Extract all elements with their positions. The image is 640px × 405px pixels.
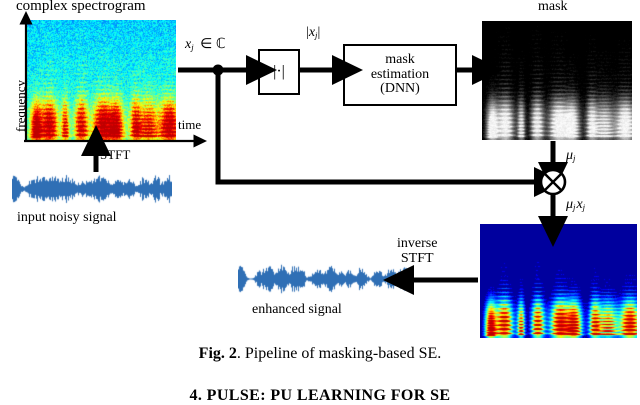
- complex-spectrogram-canvas: [26, 20, 176, 140]
- mask-title: mask: [538, 0, 568, 14]
- complex-spectrogram-image: [26, 20, 176, 140]
- masked-stft-sub: j: [583, 202, 585, 212]
- figure-caption-prefix: Fig. 2: [199, 345, 237, 362]
- input-noisy-waveform-canvas: [12, 172, 172, 206]
- inverse-stft-line-1: inverse: [397, 236, 437, 251]
- figure-pipeline-masking-based-se: complex spectrogram frequency time STFT …: [0, 0, 640, 405]
- masked-spectrogram-canvas: [480, 224, 637, 338]
- abs-operator-box: |·|: [258, 49, 300, 95]
- mask-gain-sub: j: [573, 153, 575, 163]
- mask-image: [482, 21, 632, 140]
- time-axis-label: time: [178, 118, 201, 131]
- abs-operator-label: |·|: [273, 64, 285, 81]
- magnitude-math-label: |xj|: [306, 26, 320, 40]
- enhanced-signal-label: enhanced signal: [252, 303, 342, 317]
- mask-estimation-line-2: estimation: [371, 68, 429, 83]
- mask-gain-math-label: μj: [566, 149, 575, 163]
- complex-spectrogram-title: complex spectrogram: [16, 0, 146, 14]
- magnitude-bar-close: |: [317, 25, 320, 40]
- input-noisy-signal-label: input noisy signal: [17, 211, 117, 225]
- stft-label: STFT: [100, 148, 130, 161]
- next-section-heading: 4. PULSE: PU LEARNING FOR SE: [0, 387, 640, 405]
- figure-caption: Fig. 2. Pipeline of masking-based SE.: [0, 345, 640, 363]
- mask-canvas: [482, 21, 632, 140]
- complex-stft-sub: j: [191, 42, 193, 52]
- complex-stft-math-label: xj ∈ ℂ: [185, 38, 226, 52]
- masked-spectrogram-image: [480, 224, 637, 338]
- mask-gain-var: μ: [566, 148, 573, 163]
- mask-estimation-line-3: (DNN): [380, 82, 420, 97]
- figure-caption-text: . Pipeline of masking-based SE.: [237, 345, 441, 362]
- input-noisy-signal-waveform: [12, 172, 172, 206]
- complex-stft-set: ∈ ℂ: [200, 37, 225, 52]
- mask-estimation-dnn-box: mask estimation (DNN): [343, 44, 457, 106]
- multiply-node: [541, 170, 565, 194]
- masked-gain-var: μ: [566, 197, 573, 212]
- masked-stft-math-label: μjxj: [566, 198, 585, 212]
- complex-stft-to-abs-arrow: [178, 65, 252, 76]
- enhanced-signal-waveform: [238, 262, 408, 296]
- enhanced-waveform-canvas: [238, 262, 408, 296]
- branch-junction-dot: [213, 65, 224, 76]
- mask-estimation-line-1: mask: [385, 53, 415, 68]
